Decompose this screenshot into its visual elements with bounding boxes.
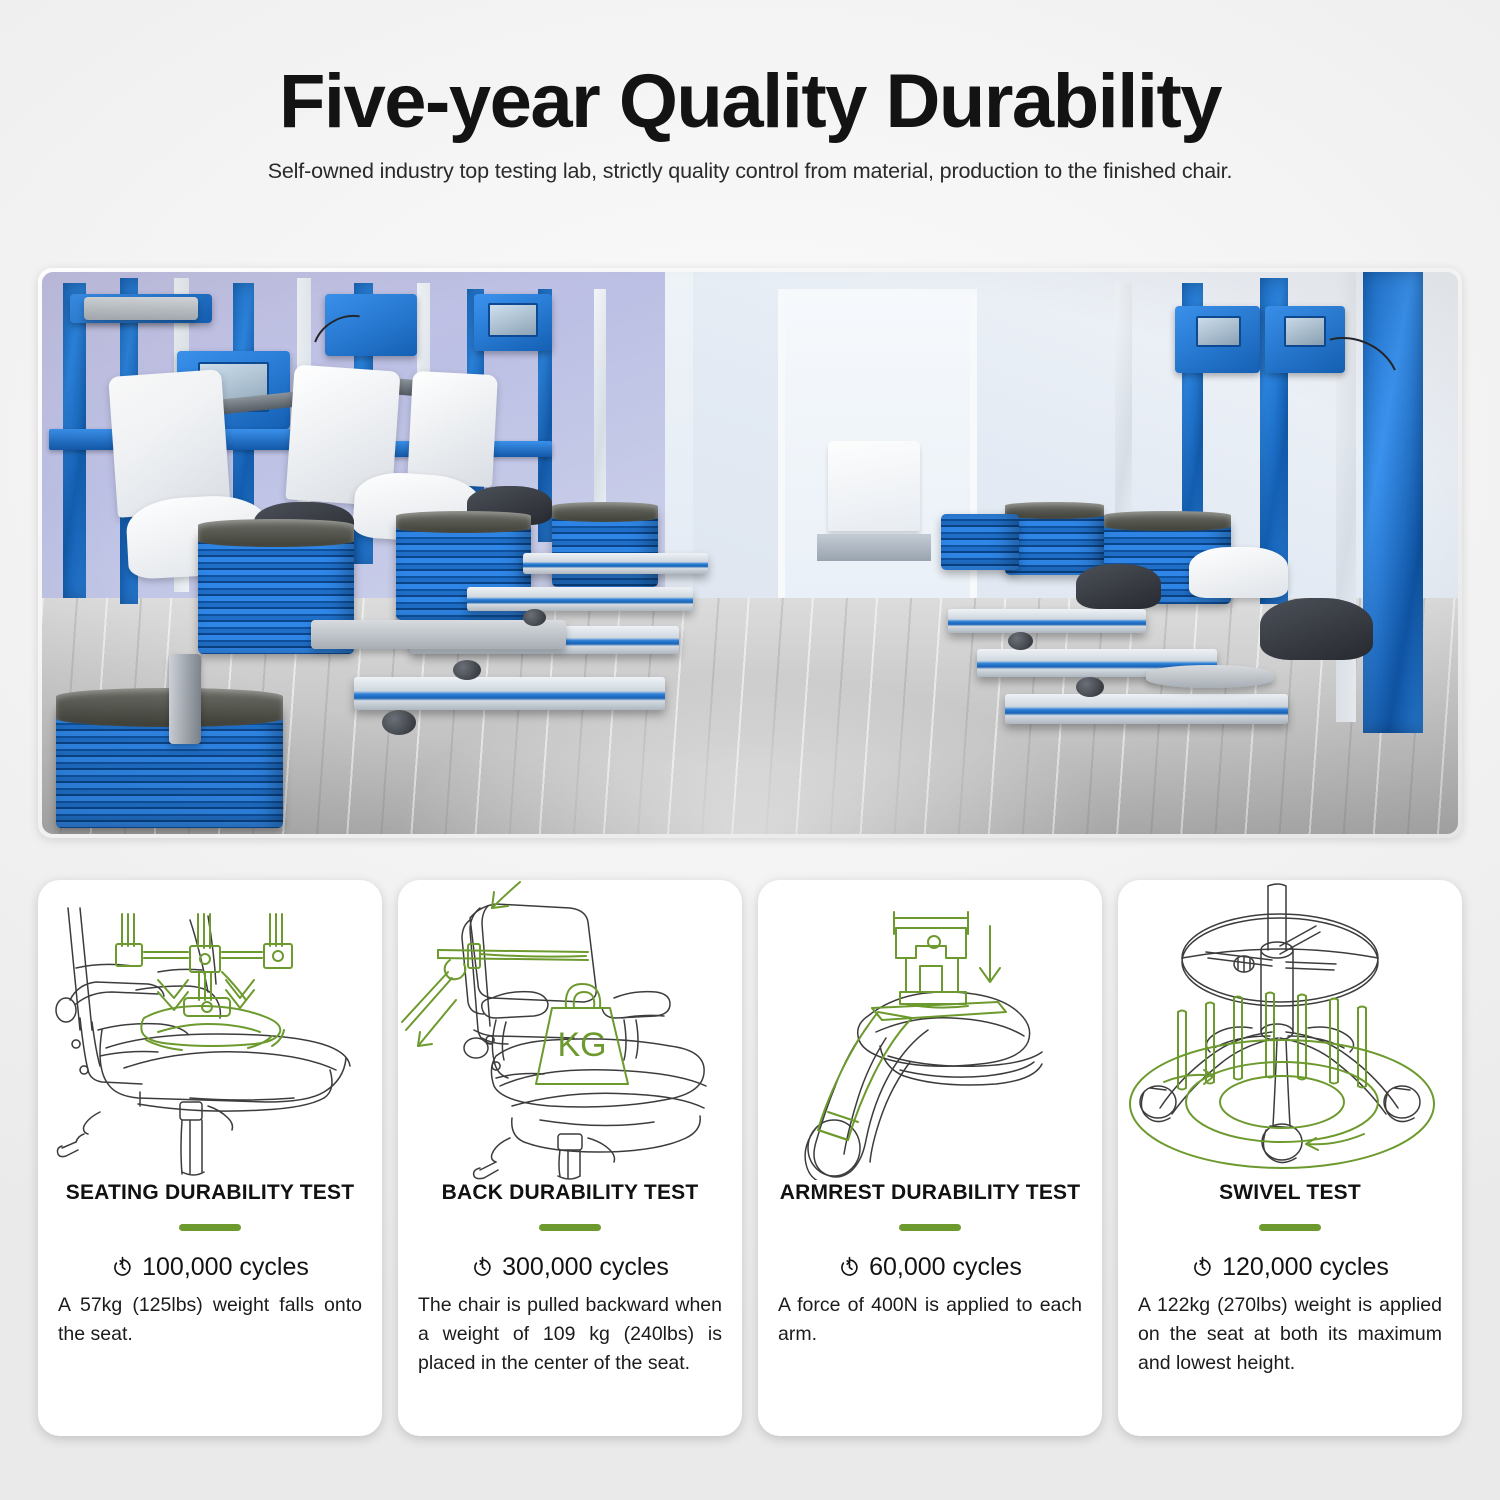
card-body: BACK DURABILITY TEST 300,000 cycles The … [398,1180,742,1397]
card-body: SEATING DURABILITY TEST 100,000 cycles A… [38,1180,382,1369]
cycle-clock-icon [111,1256,134,1279]
card-swivel-test[interactable]: SWIVEL TEST 120,000 cycles A 122kg (270l… [1118,880,1462,1436]
card-title: ARMREST DURABILITY TEST [778,1180,1082,1205]
card-cycles-text: 100,000 cycles [142,1253,309,1282]
page-header: Five-year Quality Durability Self-owned … [0,0,1500,184]
cycle-clock-icon [1191,1256,1214,1279]
card-cycles: 60,000 cycles [778,1253,1082,1282]
cycle-clock-icon [471,1256,494,1279]
card-cycles: 300,000 cycles [418,1253,722,1282]
card-divider [539,1224,601,1231]
card-cycles: 100,000 cycles [58,1253,362,1282]
swivel-base-rotation-illustration [1118,880,1462,1180]
card-body: SWIVEL TEST 120,000 cycles A 122kg (270l… [1118,1180,1462,1397]
card-cycles: 120,000 cycles [1138,1253,1442,1282]
test-cards-row: SEATING DURABILITY TEST 100,000 cycles A… [38,880,1462,1436]
page-subtitle: Self-owned industry top testing lab, str… [0,159,1500,184]
seat-press-rig-illustration [38,880,382,1180]
card-cycles-text: 120,000 cycles [1222,1253,1389,1282]
card-cycles-text: 300,000 cycles [502,1253,669,1282]
card-description: A 57kg (125lbs) weight falls onto the se… [58,1291,362,1348]
card-cycles-text: 60,000 cycles [869,1253,1022,1282]
kg-weight-label: KG [557,1026,606,1064]
testing-lab-photo [42,272,1458,834]
card-divider [179,1224,241,1231]
card-body: ARMREST DURABILITY TEST 60,000 cycles A … [758,1180,1102,1369]
card-seating-durability-test[interactable]: SEATING DURABILITY TEST 100,000 cycles A… [38,880,382,1436]
card-divider [1259,1224,1321,1231]
card-title: SWIVEL TEST [1138,1180,1442,1205]
card-description: A 122kg (270lbs) weight is applied on th… [1138,1291,1442,1377]
card-description: The chair is pulled backward when a weig… [418,1291,722,1377]
card-title: BACK DURABILITY TEST [418,1180,722,1205]
card-description: A force of 400N is applied to each arm. [778,1291,1082,1348]
backrest-pull-illustration: KG [398,880,742,1180]
armrest-press-illustration [758,880,1102,1180]
cycle-clock-icon [838,1256,861,1279]
page-title: Five-year Quality Durability [0,62,1500,142]
card-divider [899,1224,961,1231]
card-title: SEATING DURABILITY TEST [58,1180,362,1205]
photo-vignette [42,272,1458,834]
hero-photo-frame [38,268,1462,838]
card-armrest-durability-test[interactable]: ARMREST DURABILITY TEST 60,000 cycles A … [758,880,1102,1436]
card-back-durability-test[interactable]: KG BACK DURABILITY TEST 300,000 cycles T… [398,880,742,1436]
